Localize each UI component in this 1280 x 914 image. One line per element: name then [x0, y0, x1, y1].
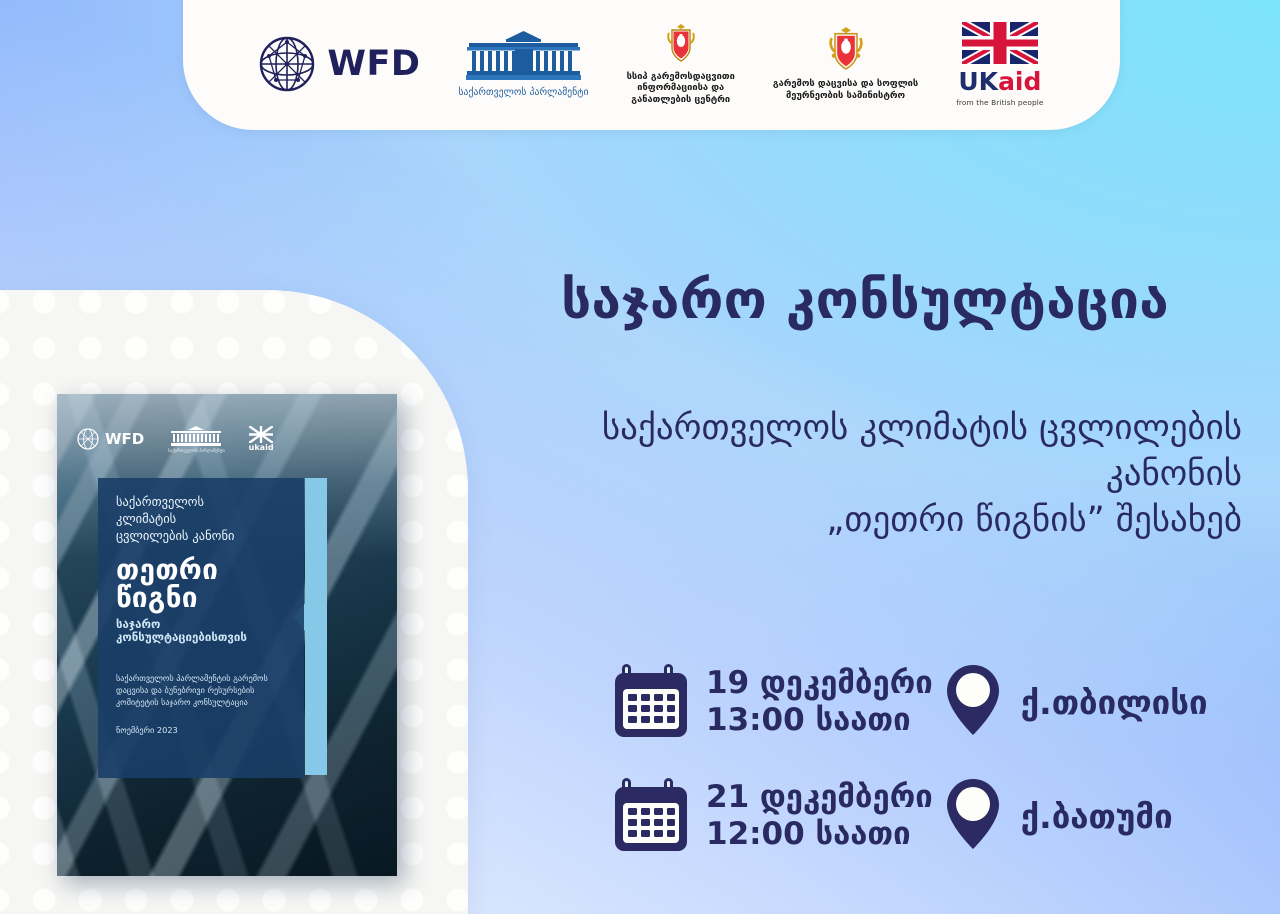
- whitepaper-cover-image: WFD: [57, 394, 397, 876]
- event-time: 13:00 საათი: [706, 702, 933, 739]
- event-datetime: 21 დეკემბერი 12:00 საათი: [706, 779, 933, 852]
- cover-logo-parliament: საქართველოს პარლამენტი: [168, 426, 224, 453]
- georgia-crest-icon: [829, 26, 863, 74]
- cover-kicker-line-3: ცვლილების კანონი: [116, 528, 288, 545]
- cover-kicker-line-1: საქართველოს: [116, 494, 288, 511]
- event-datetime: 19 დეკემბერი 13:00 საათი: [706, 665, 933, 738]
- logo-wfd: WFD: [259, 36, 420, 92]
- logo-ministry-caption: გარემოს დაცვისა და სოფლის მეურნეობის სამ…: [773, 78, 918, 101]
- union-jack-icon: [962, 22, 1038, 64]
- logo-parliament: საქართველოს პარლამენტი: [458, 30, 588, 98]
- cover-kicker-line-2: კლიმატის: [116, 511, 288, 528]
- globe-network-icon: [259, 36, 315, 92]
- cover-logo-wfd-label: WFD: [105, 432, 144, 447]
- page-subtitle-line-2: კანონის: [470, 451, 1242, 497]
- event-date: 21 დეკემბერი: [706, 779, 933, 816]
- cover-logo-wfd: WFD: [77, 428, 144, 450]
- event-city: ქ.ბათუმი: [1021, 797, 1173, 836]
- event-time: 12:00 საათი: [706, 816, 933, 853]
- logo-ministry-environment: გარემოს დაცვისა და სოფლის მეურნეობის სამ…: [773, 26, 918, 101]
- caption-line-2: ინფორმაციისა და: [627, 82, 735, 94]
- logo-parliament-caption: საქართველოს პარლამენტი: [458, 87, 588, 98]
- caption-line-1: გარემოს დაცვისა და სოფლის: [773, 78, 918, 90]
- page-title: საჯარო კონსულტაცია: [470, 272, 1260, 329]
- ukaid-uk: UK: [958, 67, 998, 96]
- cover-title-line-1: თეთრი: [116, 556, 288, 585]
- logo-ukaid-wordmark: UKaid: [958, 69, 1041, 94]
- cover-text-panel: საქართველოს კლიმატის ცვლილების კანონი თე…: [98, 478, 304, 778]
- cover-title: თეთრი წიგნი: [116, 556, 288, 613]
- logo-wfd-label: WFD: [327, 47, 420, 82]
- map-pin-icon: [949, 663, 1001, 741]
- union-jack-icon: [249, 426, 273, 443]
- cover-logo-row: WFD: [77, 422, 381, 456]
- logo-ukaid-tagline: from the British people: [956, 98, 1043, 107]
- logo-env-info-centre-caption: სსიპ გარემოსდაცვითი ინფორმაციისა და განა…: [627, 71, 735, 106]
- event-row: 19 დეკემბერი 13:00 საათი ქ.თბილისი: [612, 660, 1208, 744]
- calendar-icon: [612, 660, 690, 744]
- logo-env-info-centre: სსიპ გარემოსდაცვითი ინფორმაციისა და განა…: [627, 23, 735, 106]
- cover-accent-bar: [305, 478, 327, 775]
- cover-publication-date: ნოემბერი 2023: [116, 725, 288, 735]
- globe-network-icon: [77, 428, 99, 450]
- cover-body-text: საქართველოს პარლამენტის გარემოს დაცვისა …: [116, 673, 288, 709]
- georgia-crest-icon: [666, 23, 696, 67]
- caption-line-3: განათლების ცენტრი: [627, 94, 735, 106]
- parliament-building-icon: [170, 426, 222, 447]
- logo-ukaid: UKaid from the British people: [956, 22, 1043, 107]
- page-subtitle: საქართველოს კლიმატის ცვლილების კანონის „…: [470, 405, 1242, 544]
- cover-logo-ukaid: ukaid: [249, 426, 274, 452]
- cover-title-line-2: წიგნი: [116, 584, 288, 613]
- parliament-building-icon: [466, 30, 581, 84]
- cover-subtitle-line-1: საჯარო: [116, 618, 288, 631]
- cover-kicker: საქართველოს კლიმატის ცვლილების კანონი: [116, 494, 288, 545]
- page-subtitle-line-3: „თეთრი წიგნის” შესახებ: [470, 497, 1242, 543]
- map-pin-icon: [949, 777, 1001, 855]
- cover-subtitle: საჯარო კონსულტაციებისთვის: [116, 618, 288, 644]
- header-logo-band: WFD: [183, 0, 1120, 130]
- calendar-icon: [612, 774, 690, 858]
- page-subtitle-line-1: საქართველოს კლიმატის ცვლილების: [470, 405, 1242, 451]
- event-list: 19 დეკემბერი 13:00 საათი ქ.თბილისი: [612, 660, 1208, 888]
- cover-subtitle-line-2: კონსულტაციებისთვის: [116, 631, 288, 644]
- poster-canvas: WFD: [0, 0, 1280, 914]
- caption-line-2: მეურნეობის სამინისტრო: [773, 90, 918, 102]
- cover-logo-parliament-caption: საქართველოს პარლამენტი: [168, 448, 224, 453]
- caption-line-1: სსიპ გარემოსდაცვითი: [627, 71, 735, 83]
- event-city: ქ.თბილისი: [1021, 683, 1208, 722]
- ukaid-aid: aid: [998, 67, 1041, 96]
- partner-logo-row: WFD: [183, 12, 1120, 116]
- event-row: 21 დეკემბერი 12:00 საათი ქ.ბათუმი: [612, 774, 1208, 858]
- cover-logo-ukaid-label: ukaid: [249, 444, 274, 452]
- event-date: 19 დეკემბერი: [706, 665, 933, 702]
